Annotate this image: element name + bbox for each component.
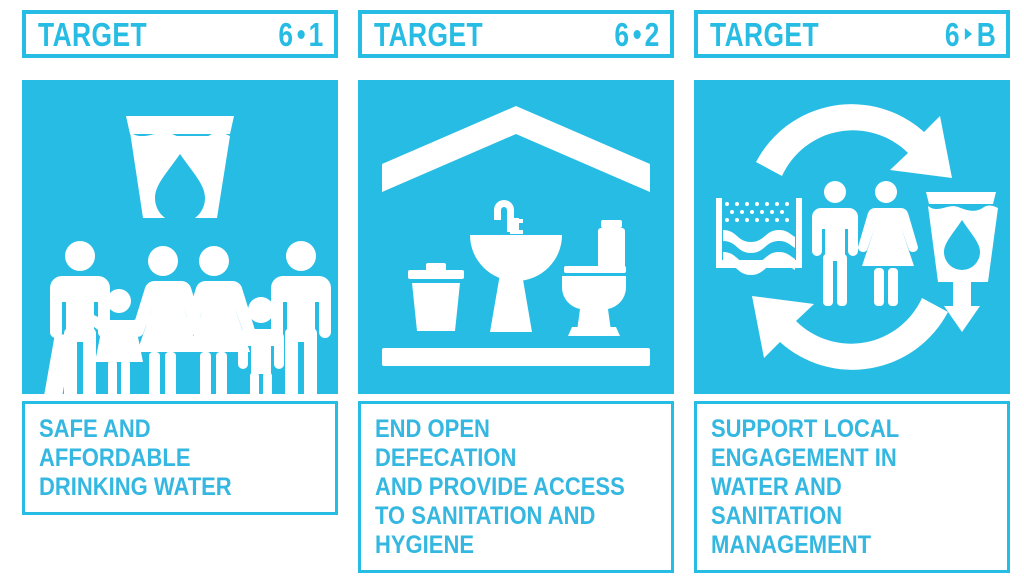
people-group-icon	[41, 241, 331, 394]
separator-dot-icon	[298, 30, 305, 39]
woman-figure-icon	[858, 181, 918, 306]
cycle-arrow-bottom-icon	[752, 296, 948, 370]
icon-tile-sanitation	[358, 80, 674, 394]
target-item-number: 1	[309, 18, 324, 51]
caption-text: SUPPORT LOCAL ENGAGEMENT IN WATER AND SA…	[711, 415, 961, 560]
floor-bar	[382, 348, 650, 366]
sink-faucet-icon	[470, 200, 562, 332]
separator-triangle-icon	[965, 28, 972, 40]
target-item-number: B	[977, 18, 996, 51]
target-panel-6-b: TARGET 6 B	[694, 10, 1010, 576]
target-label: TARGET	[374, 18, 483, 51]
caption-text: SAFE AND AFFORDABLE DRINKING WATER	[39, 415, 289, 502]
target-panel-6-2: TARGET 6 2	[358, 10, 674, 576]
roof-icon	[382, 106, 650, 192]
target-goal-number: 6	[279, 18, 294, 51]
rain-dots	[725, 202, 789, 222]
glass-of-water-icon	[126, 116, 234, 223]
water-reservoir-icon	[716, 198, 802, 275]
target-goal-number: 6	[615, 18, 630, 51]
target-number: 6 B	[945, 18, 996, 51]
cycle-arrow-top-icon	[756, 104, 952, 178]
icon-tile-water-management	[694, 80, 1010, 394]
caption-box-6-1: SAFE AND AFFORDABLE DRINKING WATER	[22, 401, 338, 515]
target-label: TARGET	[38, 18, 147, 51]
target-label: TARGET	[710, 18, 819, 51]
target-header-6-1: TARGET 6 1	[22, 10, 338, 58]
caption-text: END OPEN DEFECATION AND PROVIDE ACCESS T…	[375, 415, 625, 560]
target-header-6-b: TARGET 6 B	[694, 10, 1010, 58]
target-item-number: 2	[645, 18, 660, 51]
target-panel-6-1: TARGET 6 1	[22, 10, 338, 576]
target-goal-number: 6	[945, 18, 960, 51]
toilet-icon	[562, 220, 626, 336]
target-header-6-2: TARGET 6 2	[358, 10, 674, 58]
caption-box-6-b: SUPPORT LOCAL ENGAGEMENT IN WATER AND SA…	[694, 401, 1010, 573]
sdg-target-board: TARGET 6 1	[0, 0, 1024, 576]
man-figure-icon	[812, 181, 858, 306]
target-number: 6 2	[615, 18, 660, 51]
caption-box-6-2: END OPEN DEFECATION AND PROVIDE ACCESS T…	[358, 401, 674, 573]
icon-tile-drinking-water	[22, 80, 338, 394]
waste-bin-icon	[408, 263, 464, 331]
target-number: 6 1	[279, 18, 324, 51]
separator-dot-icon	[634, 30, 641, 39]
